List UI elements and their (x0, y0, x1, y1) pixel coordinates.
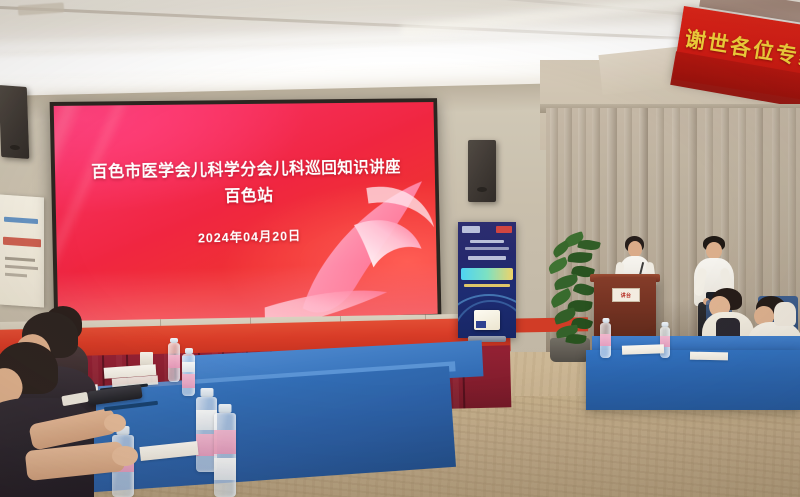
man-head (706, 242, 722, 259)
bottle-label (168, 355, 180, 368)
rollup-logo-left (462, 226, 480, 233)
bottle-cap (200, 388, 213, 397)
bottle-label (214, 430, 236, 454)
bottle-label (182, 374, 195, 388)
led-screen: 百色市医学会儿科学分会儿科巡回知识讲座 百色站 2024年04月20日 (54, 102, 438, 326)
speaker-head (628, 241, 642, 257)
water-bottle (214, 404, 236, 497)
rollup-text-line (468, 256, 506, 260)
poster-headline (3, 237, 41, 248)
bottle-label (182, 362, 195, 372)
rollup-subtitle-line (464, 284, 510, 287)
rollup-headline-bar (461, 268, 513, 280)
led-title-line1: 百色市医学会儿科学分会儿科巡回知识讲座 (55, 156, 435, 186)
rollup-product-card (474, 310, 500, 330)
document-paper (622, 344, 664, 354)
bottle-label (600, 334, 611, 346)
wall-speaker-left (0, 85, 29, 159)
wall-poster (0, 194, 44, 307)
attendee-collar (774, 302, 796, 326)
speaker-driver (10, 145, 20, 151)
poster-line (5, 273, 27, 278)
poster-line (4, 217, 38, 224)
led-date: 2024年04月20日 (56, 224, 436, 251)
rollup-text-line (465, 247, 509, 250)
attendee-foreground-left (0, 342, 136, 497)
document-paper (690, 352, 728, 361)
bottle-label (214, 458, 236, 480)
rollup-logo-right (496, 226, 512, 233)
water-bottle (168, 338, 180, 382)
speaker-driver (477, 187, 487, 192)
poster-line (5, 257, 35, 262)
rollup-text-line (470, 240, 504, 243)
podium-sign: 讲台 (612, 288, 640, 302)
conference-hall-photo: 谢世各位专家 (0, 0, 800, 497)
led-screen-frame: 百色市医学会儿科学分会儿科巡回知识讲座 百色站 2024年04月20日 (50, 98, 442, 330)
led-screen-text-block: 百色市医学会儿科学分会儿科巡回知识讲座 百色站 2024年04月20日 (55, 156, 436, 252)
wall-speaker-right (468, 140, 496, 202)
water-bottle (600, 318, 611, 358)
attendee-hand (112, 446, 138, 466)
rollup-card-badge (476, 321, 486, 328)
attendee-hand (104, 414, 126, 432)
ceiling-vent (18, 2, 65, 15)
bottle-cap (219, 404, 232, 413)
poster-line (5, 265, 38, 270)
water-bottle (182, 348, 195, 396)
bottle-body (214, 413, 236, 497)
led-title-line2: 百色站 (55, 182, 435, 213)
rollup-banner (458, 222, 516, 338)
